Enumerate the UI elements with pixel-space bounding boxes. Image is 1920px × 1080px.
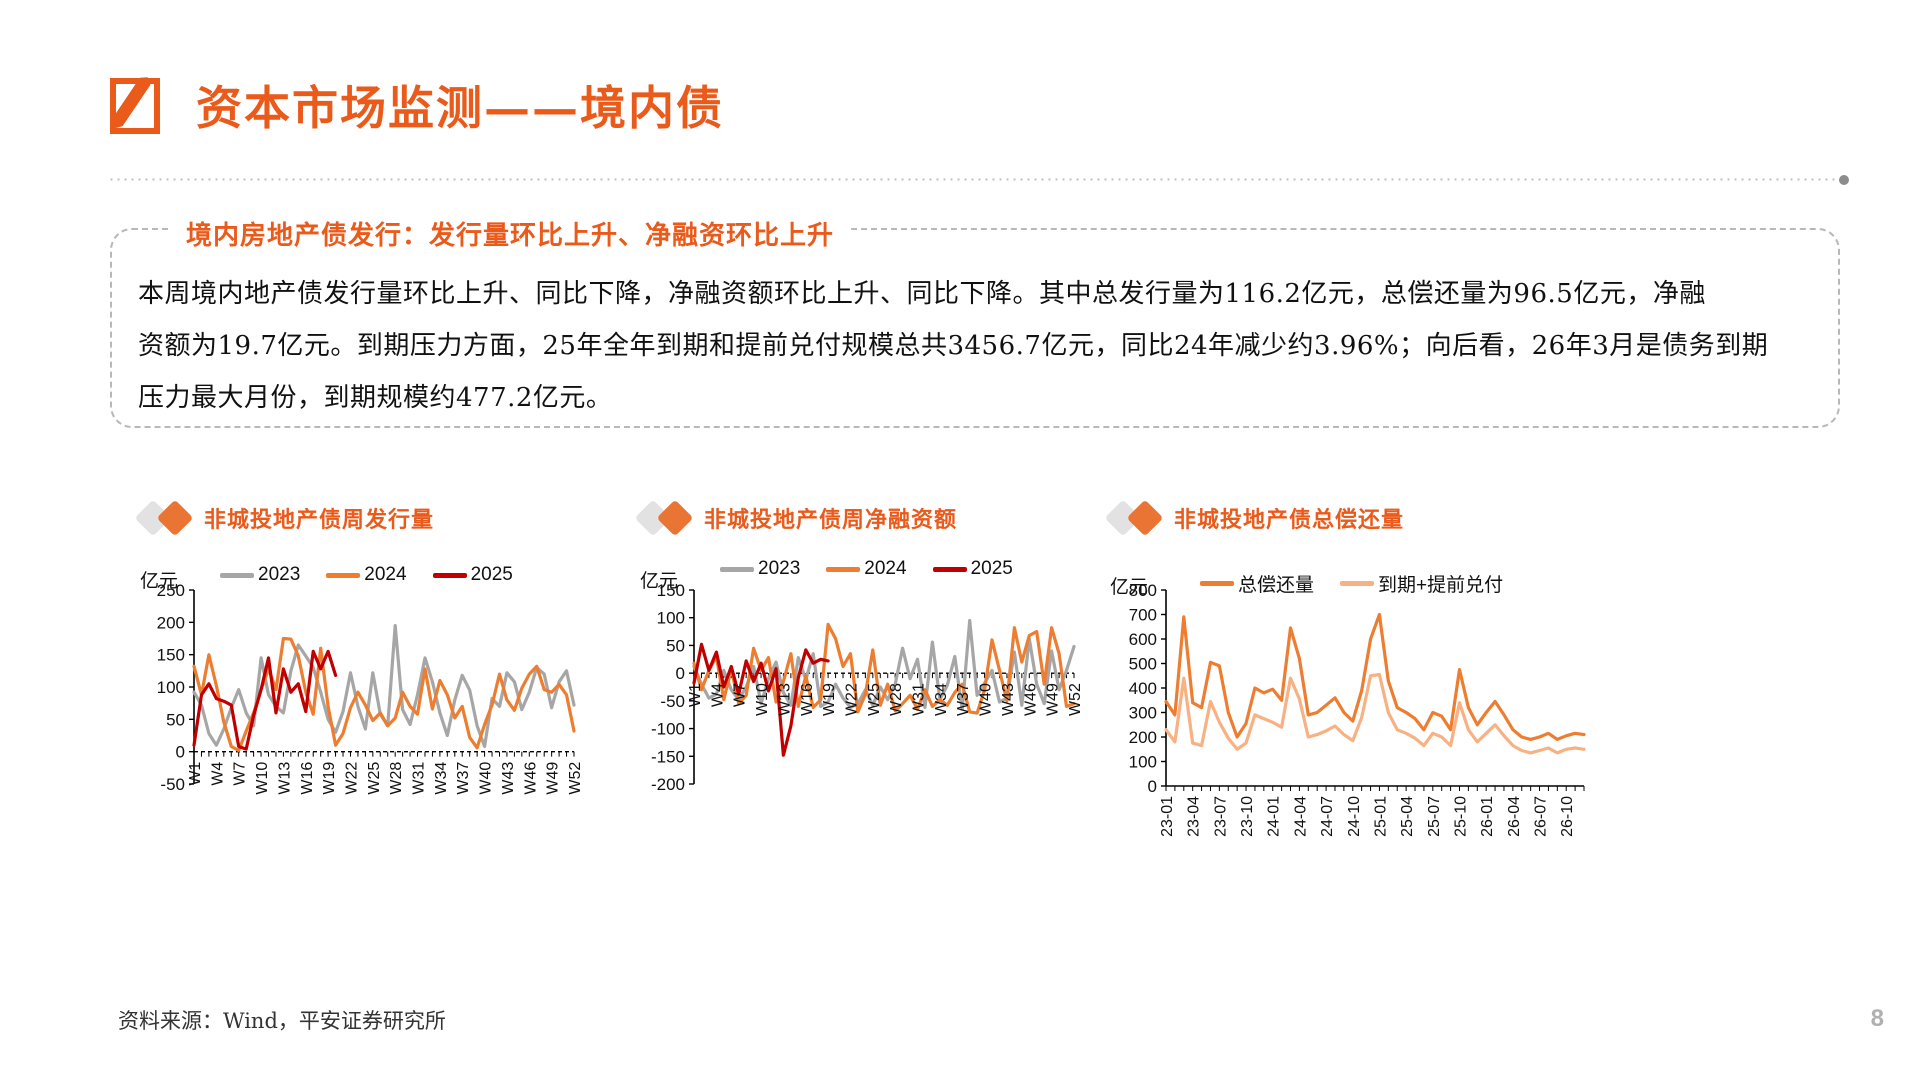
svg-text:W31: W31 bbox=[911, 683, 928, 716]
svg-text:200: 200 bbox=[1129, 728, 1157, 747]
chart-panel-issuance: 非城投地产债周发行量 亿元 202320242025 -500501001502… bbox=[140, 500, 610, 862]
legend-swatch bbox=[933, 567, 967, 572]
svg-text:W25: W25 bbox=[866, 683, 883, 716]
summary-line-3: 压力最大月份，到期规模约477.2亿元。 bbox=[138, 372, 1818, 424]
legend-swatch bbox=[1200, 581, 1234, 586]
svg-text:-200: -200 bbox=[651, 775, 685, 794]
legend-label: 总偿还量 bbox=[1238, 570, 1314, 597]
legend-swatch bbox=[220, 573, 254, 578]
svg-text:0: 0 bbox=[1148, 777, 1157, 796]
svg-text:W13: W13 bbox=[276, 762, 293, 795]
chart2-title: 非城投地产债周净融资额 bbox=[704, 502, 957, 534]
svg-text:W7: W7 bbox=[232, 762, 249, 786]
chart1-legend: 202320242025 bbox=[220, 564, 513, 586]
chart3-legend: 总偿还量到期+提前兑付 bbox=[1200, 570, 1503, 597]
svg-text:W22: W22 bbox=[844, 683, 861, 716]
legend-item-2: 到期+提前兑付 bbox=[1340, 570, 1503, 597]
svg-text:-50: -50 bbox=[160, 775, 185, 794]
svg-text:W37: W37 bbox=[455, 762, 472, 795]
svg-text:26-10: 26-10 bbox=[1559, 796, 1576, 837]
summary-callout-title: 境内房地产债发行：发行量环比上升、净融资环比上升 bbox=[170, 215, 850, 252]
chart1-canvas: 亿元 202320242025 -50050100150200250W1W4W7… bbox=[140, 572, 610, 862]
source-note: 资料来源：Wind，平安证券研究所 bbox=[118, 1005, 446, 1035]
svg-text:25-10: 25-10 bbox=[1453, 796, 1470, 837]
diamond-orange-icon bbox=[1127, 500, 1164, 537]
svg-text:W10: W10 bbox=[754, 683, 771, 716]
svg-text:24-04: 24-04 bbox=[1292, 796, 1309, 837]
chart-panel-repayment: 非城投地产债总偿还量 亿元 总偿还量到期+提前兑付 01002003004005… bbox=[1110, 500, 1630, 862]
svg-text:W43: W43 bbox=[500, 762, 517, 795]
legend-swatch bbox=[1340, 581, 1374, 586]
svg-text:-100: -100 bbox=[651, 720, 685, 739]
legend-item-3: 2025 bbox=[433, 564, 513, 586]
chart-panel-net-financing: 非城投地产债周净融资额 亿元 202320242025 -200-150-100… bbox=[640, 500, 1110, 862]
svg-text:W46: W46 bbox=[522, 762, 539, 795]
svg-text:W1: W1 bbox=[187, 762, 204, 786]
svg-text:W19: W19 bbox=[821, 683, 838, 716]
svg-text:W43: W43 bbox=[1000, 683, 1017, 716]
svg-text:0: 0 bbox=[176, 743, 185, 762]
legend-item-3: 2025 bbox=[933, 558, 1013, 580]
svg-text:W7: W7 bbox=[732, 683, 749, 707]
legend-item-1: 2023 bbox=[720, 558, 800, 580]
svg-text:W4: W4 bbox=[209, 762, 226, 786]
legend-item-1: 总偿还量 bbox=[1200, 570, 1314, 597]
chart2-canvas: 亿元 202320242025 -200-150-100-50050100150… bbox=[640, 572, 1110, 862]
chart1-header: 非城投地产债周发行量 bbox=[140, 500, 610, 536]
svg-text:23-07: 23-07 bbox=[1212, 796, 1229, 837]
svg-text:23-01: 23-01 bbox=[1159, 796, 1176, 837]
svg-text:23-04: 23-04 bbox=[1186, 796, 1203, 837]
svg-text:W22: W22 bbox=[344, 762, 361, 795]
legend-label: 2024 bbox=[364, 564, 406, 586]
svg-text:W52: W52 bbox=[567, 762, 580, 795]
svg-text:W13: W13 bbox=[776, 683, 793, 716]
svg-text:50: 50 bbox=[166, 710, 185, 729]
svg-text:W16: W16 bbox=[299, 762, 316, 795]
svg-text:23-10: 23-10 bbox=[1239, 796, 1256, 837]
legend-label: 2023 bbox=[758, 558, 800, 580]
legend-label: 2024 bbox=[864, 558, 906, 580]
chart3-canvas: 亿元 总偿还量到期+提前兑付 0100200300400500600700800… bbox=[1110, 572, 1630, 862]
divider-end-dot bbox=[1839, 175, 1849, 185]
legend-label: 2023 bbox=[258, 564, 300, 586]
svg-text:W52: W52 bbox=[1067, 683, 1080, 716]
summary-line-2: 资额为19.7亿元。到期压力方面，25年全年到期和提前兑付规模总共3456.7亿… bbox=[138, 320, 1818, 372]
svg-text:100: 100 bbox=[1129, 753, 1157, 772]
header-divider bbox=[108, 178, 1843, 181]
legend-swatch bbox=[433, 573, 467, 578]
svg-text:150: 150 bbox=[157, 646, 185, 665]
svg-text:25-07: 25-07 bbox=[1426, 796, 1443, 837]
svg-text:W49: W49 bbox=[1045, 683, 1062, 716]
svg-text:600: 600 bbox=[1129, 630, 1157, 649]
svg-text:26-07: 26-07 bbox=[1533, 796, 1550, 837]
svg-text:500: 500 bbox=[1129, 655, 1157, 674]
legend-label: 2025 bbox=[471, 564, 513, 586]
diamond-orange-icon bbox=[657, 500, 694, 537]
svg-text:100: 100 bbox=[657, 609, 685, 628]
svg-text:24-01: 24-01 bbox=[1266, 796, 1283, 837]
svg-text:700: 700 bbox=[1129, 606, 1157, 625]
chart1-unit: 亿元 bbox=[140, 566, 178, 593]
summary-line-1: 本周境内地产债发行量环比上升、同比下降，净融资额环比上升、同比下降。其中总发行量… bbox=[138, 268, 1818, 320]
legend-swatch bbox=[326, 573, 360, 578]
diamond-orange-icon bbox=[157, 500, 194, 537]
svg-text:W28: W28 bbox=[388, 762, 405, 795]
svg-text:W19: W19 bbox=[321, 762, 338, 795]
svg-text:200: 200 bbox=[157, 613, 185, 632]
svg-text:W25: W25 bbox=[366, 762, 383, 795]
svg-text:50: 50 bbox=[666, 636, 685, 655]
chart3-header: 非城投地产债总偿还量 bbox=[1110, 500, 1630, 536]
legend-swatch bbox=[720, 567, 754, 572]
svg-text:W34: W34 bbox=[433, 762, 450, 795]
legend-item-1: 2023 bbox=[220, 564, 300, 586]
page-header: 资本市场监测——境内债 bbox=[108, 72, 724, 138]
svg-text:W34: W34 bbox=[933, 683, 950, 716]
svg-text:W49: W49 bbox=[545, 762, 562, 795]
edit-pencil-icon bbox=[108, 74, 170, 136]
svg-text:400: 400 bbox=[1129, 679, 1157, 698]
legend-swatch bbox=[826, 567, 860, 572]
page-title: 资本市场监测——境内债 bbox=[196, 72, 724, 138]
svg-text:25-04: 25-04 bbox=[1399, 796, 1416, 837]
svg-text:W10: W10 bbox=[254, 762, 271, 795]
svg-text:100: 100 bbox=[157, 678, 185, 697]
svg-text:26-01: 26-01 bbox=[1479, 796, 1496, 837]
svg-text:25-01: 25-01 bbox=[1372, 796, 1389, 837]
chart1-title: 非城投地产债周发行量 bbox=[204, 502, 434, 534]
svg-text:W4: W4 bbox=[709, 683, 726, 707]
svg-text:24-10: 24-10 bbox=[1346, 796, 1363, 837]
svg-text:26-04: 26-04 bbox=[1506, 796, 1523, 837]
svg-text:W28: W28 bbox=[888, 683, 905, 716]
slide: 资本市场监测——境内债 境内房地产债发行：发行量环比上升、净融资环比上升 本周境… bbox=[0, 0, 1920, 1080]
svg-text:W37: W37 bbox=[955, 683, 972, 716]
chart3-unit: 亿元 bbox=[1110, 572, 1148, 599]
svg-text:-50: -50 bbox=[660, 692, 685, 711]
svg-text:W40: W40 bbox=[978, 683, 995, 716]
svg-text:W46: W46 bbox=[1022, 683, 1039, 716]
svg-text:24-07: 24-07 bbox=[1319, 796, 1336, 837]
chart2-unit: 亿元 bbox=[640, 566, 678, 593]
page-number: 8 bbox=[1871, 1005, 1884, 1033]
svg-text:W16: W16 bbox=[799, 683, 816, 716]
chart3-title: 非城投地产债总偿还量 bbox=[1174, 502, 1404, 534]
svg-text:W40: W40 bbox=[478, 762, 495, 795]
chart2-header: 非城投地产债周净融资额 bbox=[640, 500, 1110, 536]
legend-item-2: 2024 bbox=[826, 558, 906, 580]
svg-text:-150: -150 bbox=[651, 747, 685, 766]
svg-text:300: 300 bbox=[1129, 704, 1157, 723]
chart2-legend: 202320242025 bbox=[720, 558, 1013, 580]
legend-label: 到期+提前兑付 bbox=[1378, 570, 1503, 597]
svg-text:0: 0 bbox=[676, 664, 685, 683]
svg-text:W31: W31 bbox=[411, 762, 428, 795]
legend-label: 2025 bbox=[971, 558, 1013, 580]
legend-item-2: 2024 bbox=[326, 564, 406, 586]
svg-text:W1: W1 bbox=[687, 683, 704, 707]
summary-body-text: 本周境内地产债发行量环比上升、同比下降，净融资额环比上升、同比下降。其中总发行量… bbox=[138, 268, 1818, 424]
